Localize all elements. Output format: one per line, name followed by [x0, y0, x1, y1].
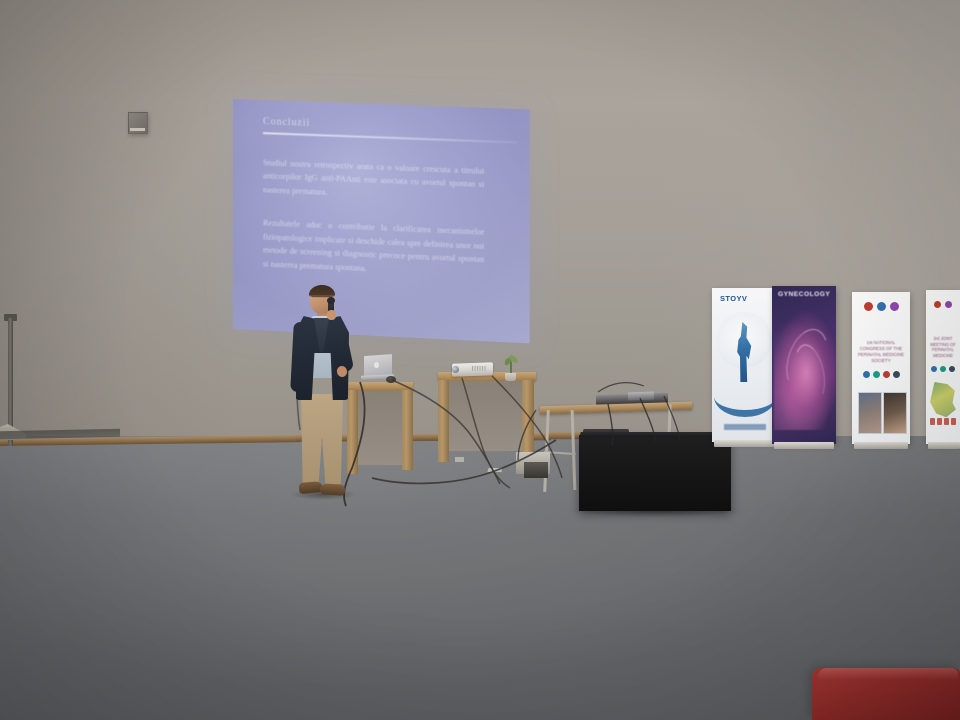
- floor-tape: [487, 468, 502, 472]
- av-floor-case-dark: [524, 462, 548, 478]
- projector-lens-icon: [452, 366, 459, 373]
- banner-stoyv-logo-text: STOYV: [720, 294, 764, 305]
- microphone-head-icon: [327, 297, 335, 304]
- banner-congress-right-foot: [928, 442, 960, 449]
- banner-congress-right: 3rd JOINT MEETING OF PERINATAL MEDICINE: [926, 290, 960, 444]
- banner-congress-right-flags: [930, 418, 956, 428]
- presenter-shoe-right: [320, 483, 346, 496]
- slide-paragraph-1: Studiul nostru retrospectiv arata ca o v…: [263, 156, 484, 206]
- slide-paragraph-2: Rezultatele aduc o contributie la clarif…: [263, 216, 484, 280]
- mouse-icon[interactable]: [386, 376, 396, 383]
- banner-gynecology: GYNECOLOGY: [772, 286, 836, 444]
- projector-table: [438, 372, 536, 462]
- photo-scene: Concluzii Studiul nostru retrospectiv ar…: [0, 0, 960, 720]
- banner-stoyv-foot: [714, 440, 774, 447]
- banner-gynecology-title: GYNECOLOGY: [778, 291, 830, 298]
- banner-congress-right-sponsor-logos: [928, 364, 958, 373]
- presenter-hand-holding-mic: [327, 310, 336, 320]
- banner-congress-left-foot: [854, 442, 908, 449]
- banner-congress-left-sponsor-logos: [858, 370, 904, 379]
- banner-congress-right-logos: [928, 298, 958, 310]
- pa-speaker-box: [579, 435, 731, 511]
- floor-plate: [455, 457, 464, 462]
- banner-stoyv-arc: [714, 376, 776, 417]
- wall-left-shading: [0, 0, 240, 452]
- plant-pot: [505, 373, 516, 381]
- wall-speaker-icon: [128, 112, 148, 134]
- red-seat-highlight: [818, 668, 958, 680]
- banner-congress-right-map-icon: [929, 382, 957, 418]
- banner-stoyv: STOYV: [712, 288, 776, 442]
- banner-congress-left-text: 1st NATIONAL CONGRESS OF THE PERINATAL M…: [856, 340, 906, 364]
- banner-congress-left-photo: [858, 392, 882, 434]
- banner-gynecology-foot: [774, 442, 834, 449]
- apple-logo-icon: [374, 362, 379, 368]
- banner-stoyv-url: [724, 424, 766, 430]
- banner-congress-right-text: 3rd JOINT MEETING OF PERINATAL MEDICINE: [928, 336, 958, 358]
- banner-congress-left-logos: [858, 300, 904, 312]
- slide-content: Concluzii Studiul nostru retrospectiv ar…: [233, 99, 530, 343]
- presenter-trousers: [301, 394, 343, 484]
- av-device[interactable]: [628, 392, 654, 401]
- projection-screen: Concluzii Studiul nostru retrospectiv ar…: [233, 99, 530, 343]
- banner-congress-left-photo: [883, 392, 907, 434]
- presenter: [284, 286, 358, 508]
- projector-vent: [472, 366, 486, 371]
- banner-congress-left: 1st NATIONAL CONGRESS OF THE PERINATAL M…: [852, 292, 910, 444]
